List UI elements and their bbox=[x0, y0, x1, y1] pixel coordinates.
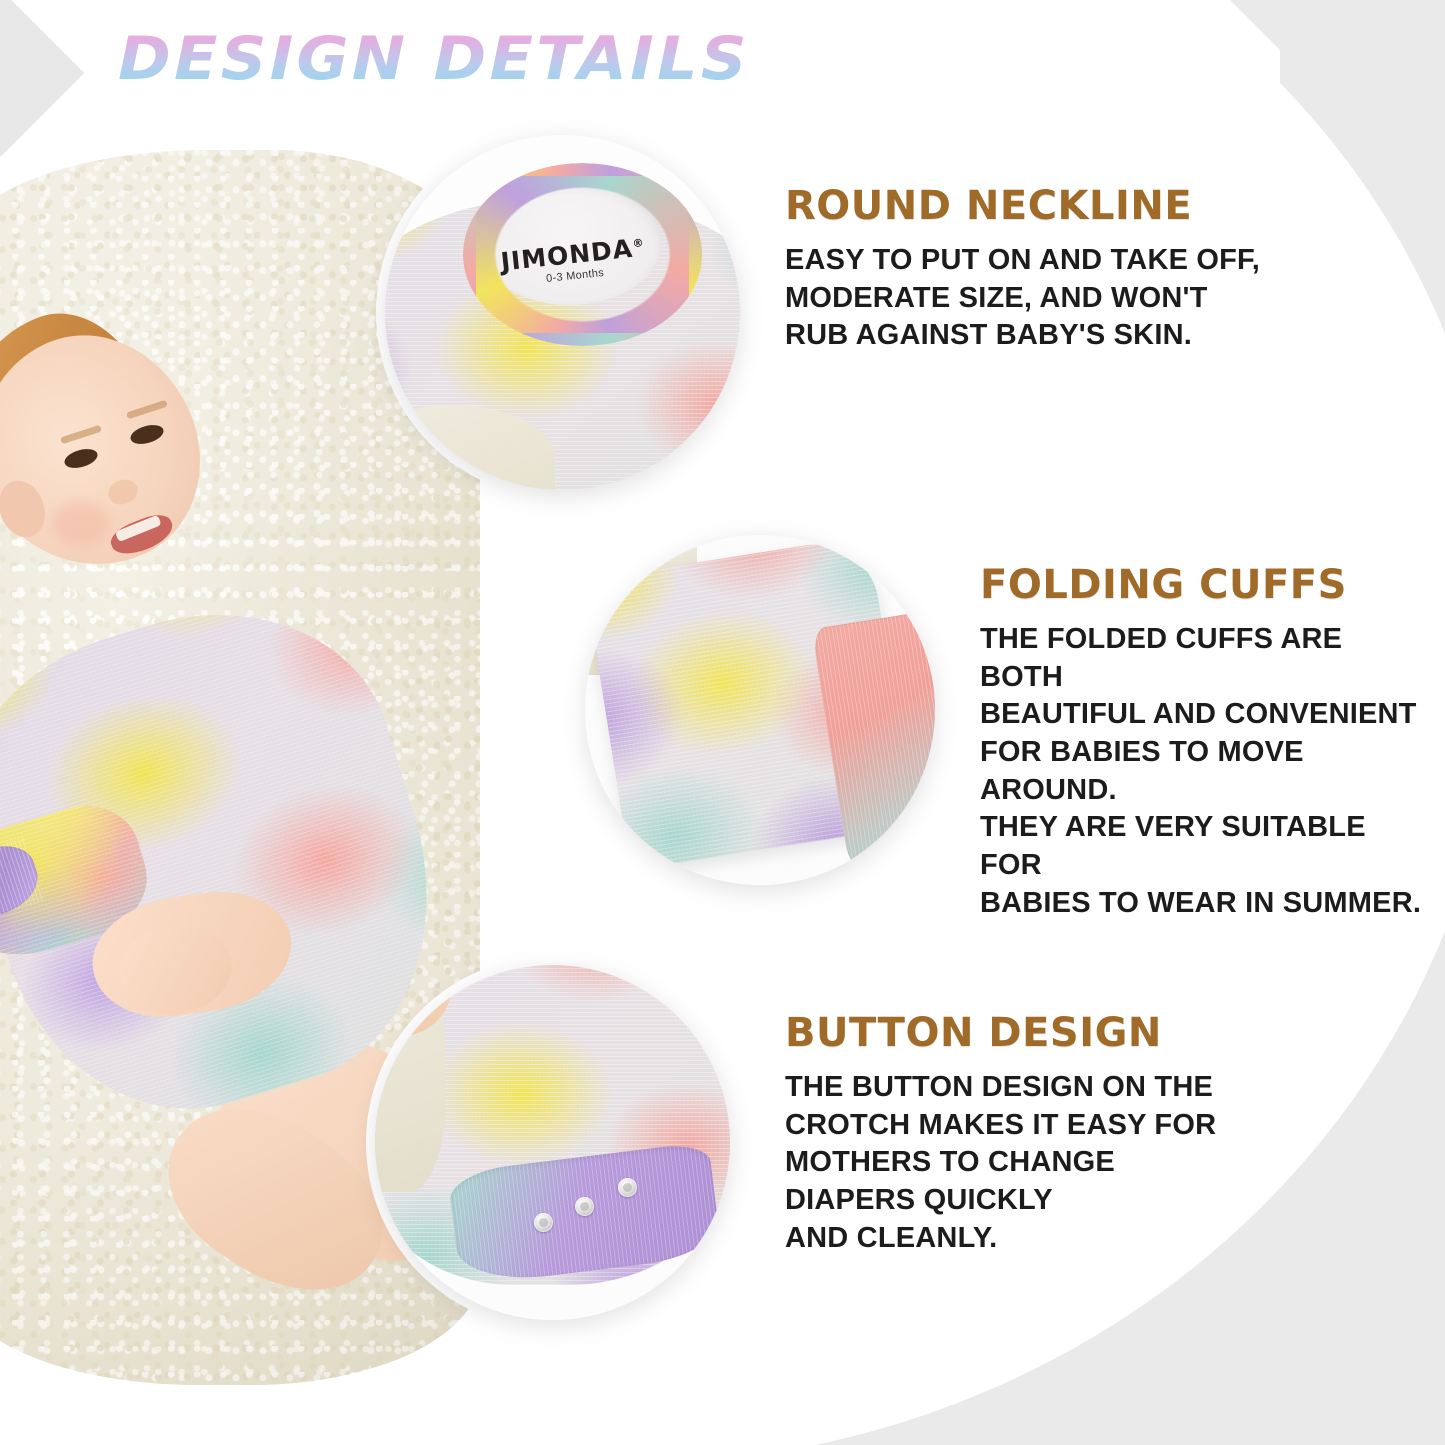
snap-button-icon bbox=[534, 1213, 553, 1232]
feature-body-line: MOTHERS TO CHANGE bbox=[785, 1146, 1115, 1178]
feature-body-line: RUB AGAINST BABY'S SKIN. bbox=[785, 319, 1192, 351]
feature-body-line: AND CLEANLY. bbox=[785, 1222, 997, 1254]
feature-body: THE FOLDED CUFFS ARE BOTH BEAUTIFUL AND … bbox=[980, 621, 1425, 923]
feature-block-round-neckline: ROUND NECKLINE EASY TO PUT ON AND TAKE O… bbox=[785, 186, 1405, 355]
detail-photo-button bbox=[375, 965, 730, 1320]
feature-body-line: MODERATE SIZE, AND WON'T bbox=[785, 282, 1208, 314]
feature-block-button-design: BUTTON DESIGN THE BUTTON DESIGN ON THE C… bbox=[785, 1013, 1405, 1257]
feature-heading: ROUND NECKLINE bbox=[785, 186, 1405, 226]
cuffs-photo-inner bbox=[585, 535, 935, 885]
feature-heading: FOLDING CUFFS bbox=[980, 565, 1425, 605]
feature-body-line: DIAPERS QUICKLY bbox=[785, 1184, 1053, 1216]
baby-cheek bbox=[52, 502, 110, 546]
feature-heading: BUTTON DESIGN bbox=[785, 1013, 1405, 1053]
infographic-canvas: DESIGN DETAILS bbox=[0, 0, 1445, 1445]
neckline-photo-inner: JIMONDA® 0-3 Months bbox=[385, 135, 740, 490]
feature-body-line: THEY ARE VERY SUITABLE FOR bbox=[980, 811, 1366, 881]
feature-body-line: FOR BABIES TO MOVE AROUND. bbox=[980, 736, 1304, 806]
feature-body: EASY TO PUT ON AND TAKE OFF, MODERATE SI… bbox=[785, 242, 1405, 355]
feature-body-line: THE BUTTON DESIGN ON THE bbox=[785, 1071, 1213, 1103]
detail-photo-neckline: JIMONDA® 0-3 Months bbox=[385, 135, 740, 490]
snap-button-icon bbox=[575, 1197, 594, 1216]
snap-button-icon bbox=[618, 1178, 637, 1197]
feature-body-line: BABIES TO WEAR IN SUMMER. bbox=[980, 887, 1421, 919]
page-title: DESIGN DETAILS bbox=[118, 24, 750, 94]
feature-block-folding-cuffs: FOLDING CUFFS THE FOLDED CUFFS ARE BOTH … bbox=[980, 565, 1425, 923]
feature-body: THE BUTTON DESIGN ON THE CROTCH MAKES IT… bbox=[785, 1069, 1405, 1257]
detail-photo-cuffs bbox=[585, 535, 935, 885]
feature-body-line: CROTCH MAKES IT EASY FOR bbox=[785, 1109, 1216, 1141]
feature-body-line: BEAUTIFUL AND CONVENIENT bbox=[980, 698, 1417, 730]
feature-body-line: THE FOLDED CUFFS ARE BOTH bbox=[980, 623, 1342, 693]
feature-body-line: EASY TO PUT ON AND TAKE OFF, bbox=[785, 244, 1260, 276]
button-photo-inner bbox=[375, 965, 730, 1320]
